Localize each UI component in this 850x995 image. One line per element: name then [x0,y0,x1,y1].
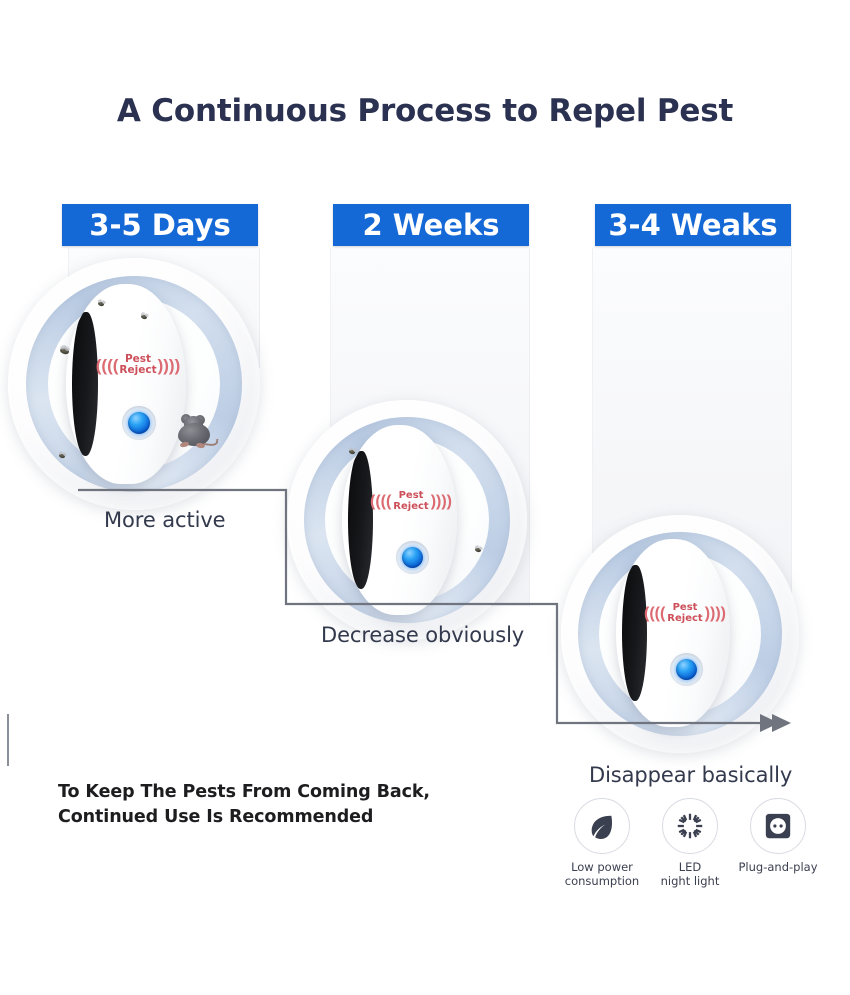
feature-label: LED night light [661,860,720,888]
feature-icon-circle [750,798,806,854]
feature-low-power: Low power consumption [566,798,638,888]
feature-icon-circle [662,798,718,854]
power-socket-icon [763,811,793,841]
feature-label: Low power consumption [565,860,639,888]
bottom-note: To Keep The Pests From Coming Back, Cont… [58,780,430,830]
feature-icon-circle [574,798,630,854]
stage-3-caption: Disappear basically [589,763,792,787]
feature-list: Low power consumption [566,798,814,888]
bottom-note-line-2: Continued Use Is Recommended [58,805,430,830]
stage-2-caption: Decrease obviously [321,623,524,647]
feature-plug-and-play: Plug-and-play [742,798,814,888]
left-edge-tick [7,714,9,766]
bottom-note-line-1: To Keep The Pests From Coming Back, [58,780,430,805]
stage-1-caption: More active [104,508,225,532]
feature-label: Plug-and-play [739,860,818,874]
leaf-icon [587,811,617,841]
feature-led-night-light: LED night light [654,798,726,888]
infographic-canvas: A Continuous Process to Repel Pest 3-5 D… [0,0,850,995]
led-light-icon [676,812,704,840]
